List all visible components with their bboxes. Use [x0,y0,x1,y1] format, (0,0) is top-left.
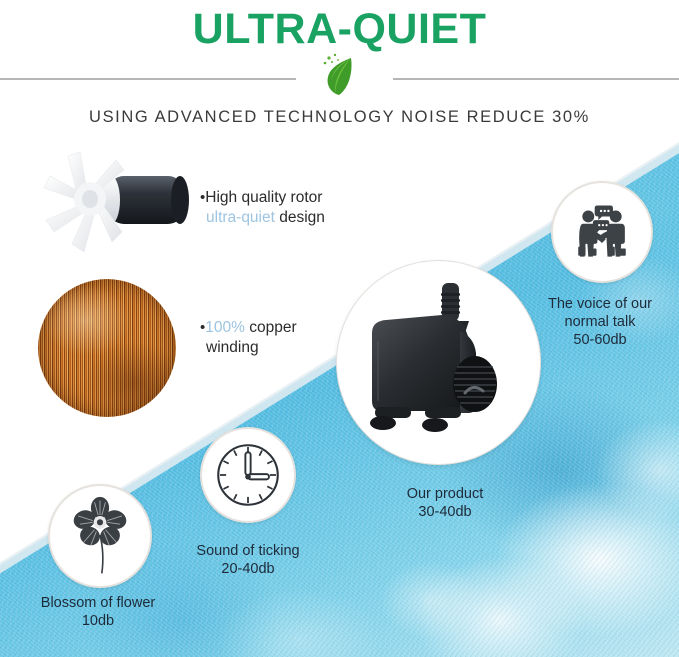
two-people-talking-icon [570,200,634,264]
clock-icon [213,440,283,510]
caption-talk: The voice of our normal talk 50-60db [530,295,670,349]
page-title: ULTRA-QUIET [0,2,679,56]
divider-left [0,78,296,80]
feature-rotor-line2-rest: design [275,209,325,226]
caption-talk-line1: The voice of our [530,295,670,313]
caption-clock-line1: Sound of ticking [178,542,318,560]
flower-badge [48,484,152,588]
copper-winding-image [38,279,176,417]
feature-rotor-line1: High quality rotor [205,189,322,206]
product-infographic: ULTRA-QUIET USING ADVANCED TECHNOLOGY NO… [0,0,679,657]
caption-product-line1: Our product [355,485,535,503]
feature-rotor-highlight: ultra-quiet [206,209,275,226]
caption-clock: Sound of ticking 20-40db [178,542,318,578]
caption-flower-line1: Blossom of flower [28,594,168,612]
divider-right [393,78,679,80]
feature-rotor-text: •High quality rotor ultra-quiet design [200,188,325,228]
water-pump-icon [347,271,530,454]
caption-talk-line3: 50-60db [530,331,670,349]
caption-product: Our product 30-40db [355,485,535,521]
feature-copper-text: •100% copper winding [200,318,297,358]
feature-copper-highlight: 100% [205,319,245,336]
talking-people-badge [551,181,653,283]
caption-flower: Blossom of flower 10db [28,594,168,630]
feature-copper-line1-rest: copper [245,319,297,336]
rotor-impeller-image [28,146,196,264]
subtitle: USING ADVANCED TECHNOLOGY NOISE REDUCE 3… [0,108,679,127]
caption-flower-line2: 10db [28,612,168,630]
feature-copper-line2: winding [200,338,297,358]
product-pump-badge [337,261,540,464]
clock-badge [200,427,296,523]
caption-product-line2: 30-40db [355,503,535,521]
feature-rotor-line2: ultra-quiet design [200,208,325,228]
flower-icon [63,495,137,577]
caption-talk-line2: normal talk [530,313,670,331]
caption-clock-line2: 20-40db [178,560,318,578]
leaf-icon [313,52,365,100]
